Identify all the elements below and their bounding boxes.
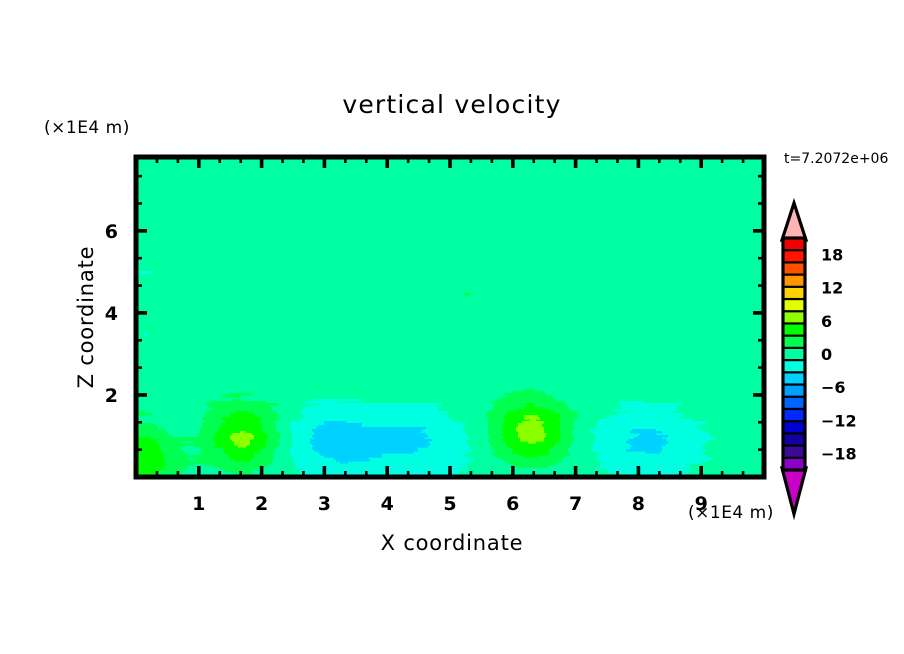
colorbar-band <box>783 446 805 459</box>
x-axis-label: X coordinate <box>381 531 524 555</box>
x-axis-units: (×1E4 m) <box>688 503 774 523</box>
colorbar-band <box>783 250 805 263</box>
colorbar-band <box>783 262 805 275</box>
colorbar-band <box>783 397 805 410</box>
x-tick-label: 1 <box>192 493 205 515</box>
y-axis-label: Z coordinate <box>74 246 98 389</box>
colorbar-label: −12 <box>821 411 857 430</box>
colorbar-band <box>783 348 805 361</box>
colorbar-label: 12 <box>821 279 843 298</box>
plot-canvas: vertical velocity (×1E4 m) t=7.2072e+06 … <box>0 0 904 654</box>
x-tick-label: 8 <box>632 493 645 515</box>
colorbar-label: 6 <box>821 312 832 331</box>
colorbar-label: −18 <box>821 444 857 463</box>
colorbar-label: −6 <box>821 378 846 397</box>
y-tick-label: 6 <box>105 221 118 243</box>
colorbar-band <box>783 311 805 324</box>
colorbar-band <box>783 336 805 349</box>
contour-field <box>136 157 764 478</box>
colorbar-band <box>783 409 805 422</box>
x-tick-label: 2 <box>255 493 268 515</box>
colorbar-label: 0 <box>821 345 832 364</box>
colorbar-band <box>783 299 805 312</box>
colorbar-label: 18 <box>821 246 843 265</box>
colorbar-band <box>783 433 805 446</box>
x-tick-label: 3 <box>318 493 331 515</box>
time-annotation: t=7.2072e+06 <box>784 151 888 167</box>
colorbar-band <box>783 323 805 336</box>
x-tick-label: 7 <box>569 493 582 515</box>
colorbar-band <box>783 360 805 373</box>
y-tick-label: 2 <box>105 385 118 407</box>
x-tick-label: 6 <box>506 493 519 515</box>
y-tick-label: 4 <box>105 303 118 325</box>
contour-plot-figure: vertical velocity (×1E4 m) t=7.2072e+06 … <box>0 0 904 654</box>
x-tick-label: 4 <box>381 493 394 515</box>
y-axis-units: (×1E4 m) <box>44 118 130 138</box>
colorbar-band <box>783 421 805 434</box>
colorbar-band <box>783 275 805 288</box>
x-tick-label: 5 <box>443 493 456 515</box>
colorbar-bands <box>783 238 805 470</box>
colorbar-band <box>783 287 805 300</box>
plot-title: vertical velocity <box>342 90 561 119</box>
colorbar-band <box>783 372 805 385</box>
colorbar-band <box>783 238 805 251</box>
colorbar-band <box>783 385 805 398</box>
